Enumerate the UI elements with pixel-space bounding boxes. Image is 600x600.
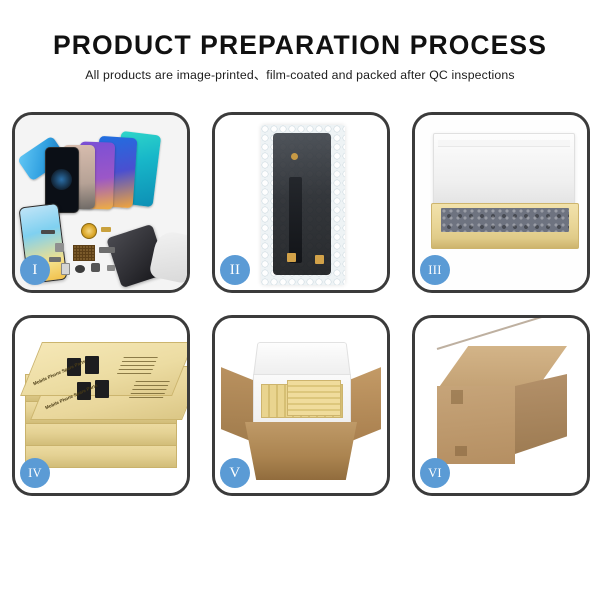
step-badge-2: II (220, 255, 250, 285)
label-screen-art (95, 380, 109, 398)
page-subtitle: All products are image-printed、film-coat… (0, 67, 600, 83)
tray-lip (432, 238, 578, 248)
small-part (91, 263, 100, 272)
packed-yellow-boxes (287, 380, 341, 416)
kraft-tray (431, 203, 579, 249)
carton-front-face (437, 386, 515, 464)
packed-items (441, 208, 569, 232)
step-badge-6: VI (420, 458, 450, 488)
screen-assembly (273, 133, 331, 275)
process-step-panel-5[interactable]: V (212, 315, 390, 496)
page-title: PRODUCT PREPARATION PROCESS (0, 30, 600, 60)
process-step-panel-3[interactable]: III (412, 112, 590, 293)
small-part (41, 230, 55, 234)
small-part (49, 257, 61, 262)
step-badge-5: V (220, 458, 250, 488)
step-badge-3: III (420, 255, 450, 285)
small-part (75, 265, 85, 273)
process-step-panel-4[interactable]: Mobile Phone Spare Parts Mobile Phone Sp… (12, 315, 190, 496)
bubble-wrap-pouch (261, 125, 345, 285)
gold-connector (315, 255, 324, 264)
step-badge-1: I (20, 255, 50, 285)
carton-tape-tab (455, 446, 467, 456)
carton-tape-tab (451, 390, 463, 404)
box-stack: Mobile Phone Spare Parts Mobile Phone Sp… (25, 336, 187, 482)
white-foam-lid (433, 133, 575, 209)
small-part (61, 263, 70, 275)
small-part (55, 243, 64, 252)
small-part (99, 247, 115, 253)
carton-body (245, 422, 357, 480)
process-step-panel-1[interactable]: I (12, 112, 190, 293)
small-part (101, 227, 111, 232)
small-part (107, 265, 115, 271)
process-step-panel-2[interactable]: II (212, 112, 390, 293)
chip-grid-part (73, 245, 95, 261)
gold-connector (291, 153, 298, 160)
gold-coil-part (81, 223, 97, 239)
process-steps-grid: I II III (12, 112, 590, 496)
label-screen-art (85, 356, 99, 374)
header: PRODUCT PREPARATION PROCESS All products… (0, 0, 600, 83)
gold-connector (287, 253, 296, 262)
process-step-panel-6[interactable]: VI (412, 315, 590, 496)
flex-cable (289, 177, 302, 263)
step-badge-4: IV (20, 458, 50, 488)
